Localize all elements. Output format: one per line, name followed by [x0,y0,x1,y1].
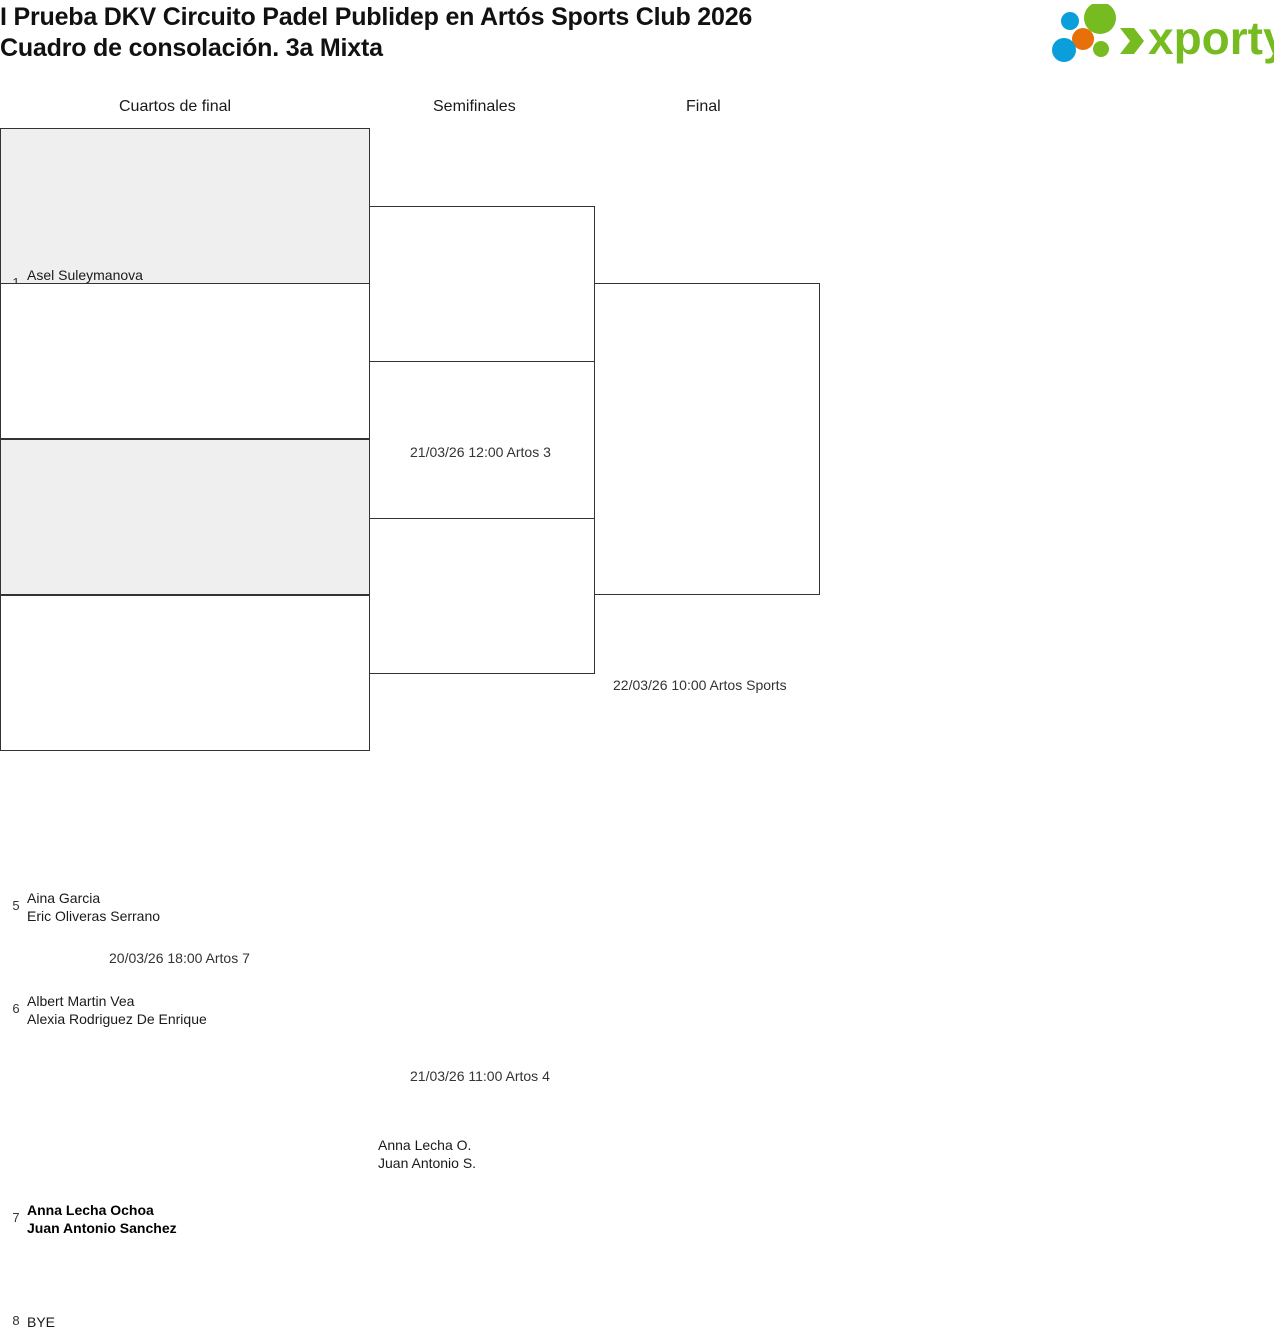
match-box-sf-1[interactable]: 21/03/26 12:00 Artos 3 [369,206,595,362]
team-name-top: Anna Lecha Ochoa Juan Antonio Sanchez [27,1201,177,1237]
seed-number: 5 [8,898,24,913]
match-box-qf-2[interactable]: 3 Sebas Oliva Esther Becerra Gallego 20/… [0,283,370,439]
match-meta: 22/03/26 10:00 Artos Sports [613,677,787,693]
team-name-top: Aina Garcia Eric Oliveras Serrano [27,889,160,925]
tournament-bracket: 1 Asel Suleymanova Jordi Visa Romero 20/… [0,0,1280,1015]
match-box-qf-1[interactable]: 1 Asel Suleymanova Jordi Visa Romero 20/… [0,128,370,284]
match-meta: 21/03/26 12:00 Artos 3 [410,444,551,460]
seed-number: 8 [8,1313,24,1328]
seed-number: 6 [8,1001,24,1016]
team-name-bottom: Albert Martin Vea Alexia Rodriguez De En… [27,992,207,1028]
match-meta: 21/03/26 11:00 Artos 4 [410,1068,550,1084]
match-box-sf-2[interactable]: 21/03/26 11:00 Artos 4 Anna Lecha O. Jua… [369,518,595,674]
match-box-qf-3[interactable]: 5 Aina Garcia Eric Oliveras Serrano 20/0… [0,439,370,595]
team-name-bottom: Anna Lecha O. Juan Antonio S. [378,1136,476,1172]
match-meta: 20/03/26 18:00 Artos 7 [109,950,250,966]
seed-number: 7 [8,1210,24,1225]
match-box-final[interactable]: 22/03/26 10:00 Artos Sports [594,283,820,595]
match-box-qf-4[interactable]: 7 Anna Lecha Ochoa Juan Antonio Sanchez … [0,595,370,751]
team-name-bottom: BYE [27,1313,55,1331]
